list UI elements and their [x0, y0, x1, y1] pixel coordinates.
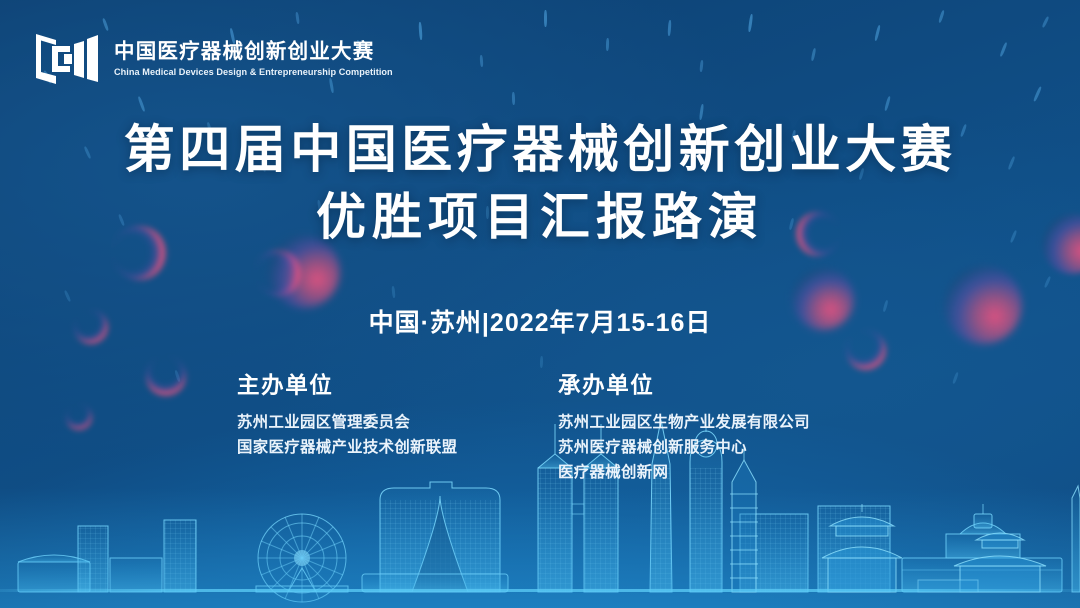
skyline-base-glow	[0, 488, 1080, 608]
dash-particle	[606, 38, 609, 51]
dash-particle	[699, 104, 704, 120]
dash-particle	[748, 14, 753, 32]
dash-particle	[295, 12, 300, 24]
poster-title-group: 第四届中国医疗器械创新创业大赛 优胜项目汇报路演	[0, 122, 1080, 245]
logo-text: 中国医疗器械创新创业大赛 China Medical Devices Desig…	[114, 41, 397, 77]
organizer-host-list: 苏州工业园区管理委员会 国家医疗器械产业技术创新联盟	[237, 411, 540, 461]
organizer-host-heading: 主办单位	[237, 368, 540, 400]
dash-particle	[938, 10, 945, 23]
open-book-door-logo-icon	[34, 28, 100, 90]
event-poster: 中国医疗器械创新创业大赛 China Medical Devices Desig…	[0, 0, 1080, 608]
logo-english-name: China Medical Devices Design & Entrepren…	[114, 67, 393, 77]
organizer-coorganizer: 承办单位 苏州工业园区生物产业发展有限公司 苏州医疗器械创新服务中心 医疗器械创…	[540, 368, 852, 486]
dash-particle	[699, 60, 703, 72]
dash-particle	[137, 96, 145, 112]
orb-decoration	[246, 241, 311, 306]
organizer-coorganizer-list: 苏州工业园区生物产业发展有限公司 苏州医疗器械创新服务中心 医疗器械创新网	[558, 411, 852, 486]
list-item: 苏州医疗器械创新服务中心	[558, 436, 852, 461]
dash-particle	[540, 356, 543, 368]
dash-particle	[512, 92, 515, 105]
dash-particle	[391, 286, 395, 298]
list-item: 苏州工业园区生物产业发展有限公司	[558, 411, 852, 436]
dash-particle	[418, 22, 422, 40]
logo-chinese-name: 中国医疗器械创新创业大赛	[114, 41, 397, 64]
competition-logo-lockup: 中国医疗器械创新创业大赛 China Medical Devices Desig…	[34, 28, 397, 90]
dash-particle	[811, 48, 817, 61]
organizer-section: 主办单位 苏州工业园区管理委员会 国家医疗器械产业技术创新联盟 承办单位 苏州工…	[0, 368, 1080, 486]
dash-particle	[480, 55, 484, 67]
dash-particle	[874, 25, 881, 41]
organizer-host: 主办单位 苏州工业园区管理委员会 国家医疗器械产业技术创新联盟	[228, 368, 540, 486]
skyline-ground-line	[0, 589, 1080, 592]
dash-particle	[884, 96, 891, 111]
dash-particle	[1044, 276, 1052, 288]
organizer-coorganizer-heading: 承办单位	[558, 368, 852, 400]
dash-particle	[1042, 16, 1050, 28]
dash-particle	[64, 290, 72, 302]
poster-title-line-1: 第四届中国医疗器械创新创业大赛	[0, 122, 1080, 178]
dash-particle	[1033, 86, 1042, 102]
poster-title-line-2: 优胜项目汇报路演	[0, 190, 1080, 245]
dash-particle	[544, 10, 547, 27]
dash-particle	[667, 20, 671, 36]
list-item: 医疗器械创新网	[558, 461, 852, 486]
list-item: 国家医疗器械产业技术创新联盟	[237, 436, 540, 461]
list-item: 苏州工业园区管理委员会	[237, 411, 540, 436]
dash-particle	[999, 42, 1007, 57]
poster-location-date: 中国·苏州|2022年7月15-16日	[0, 303, 1080, 339]
